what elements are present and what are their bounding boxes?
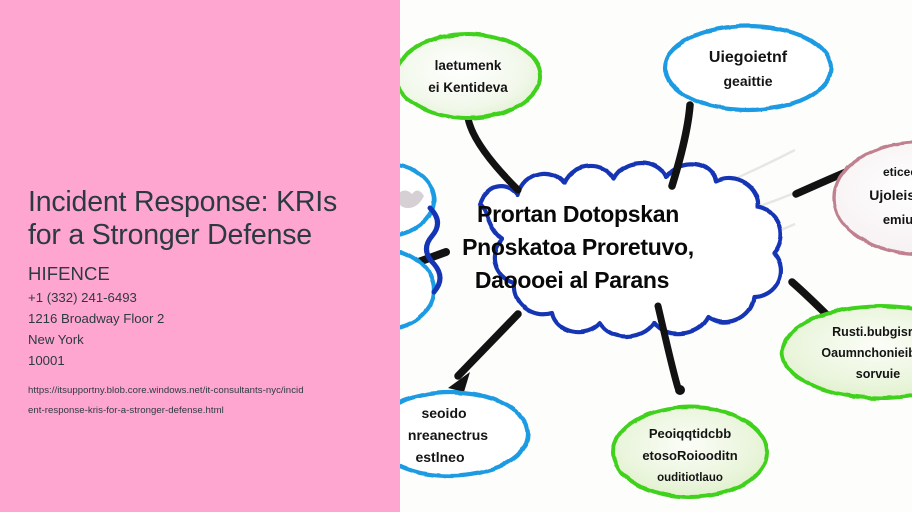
- node-right-lower-line-2: Oaumnchonieibten: [821, 346, 912, 360]
- promo-card: Incident Response: KRIs for a Stronger D…: [0, 0, 912, 512]
- contact-street: 1216 Broadway Floor 2: [28, 309, 376, 330]
- node-right-lower-line-1: Rusti.bubgisriu: [832, 325, 912, 339]
- node-right-upper-line-3: emiu: [883, 212, 912, 227]
- node-right-upper-line-1: eticee: [883, 165, 912, 179]
- node-bottom-center-line-1: Peoiqqtidcbb: [649, 426, 731, 441]
- node-top-right[interactable]: Uiegoietnf geaittie: [665, 26, 831, 110]
- page-title: Incident Response: KRIs for a Stronger D…: [28, 186, 376, 252]
- node-bottom-center-line-3: ouditiotlauo: [657, 472, 723, 484]
- node-bottom-center[interactable]: Peoiqqtidcbb etosoRoiooditn ouditiotlauo: [613, 407, 767, 497]
- node-bottom-left-line-2: nreanectrus: [408, 427, 488, 443]
- central-node-line-1: Prortan Dotopskan: [477, 201, 679, 227]
- source-url[interactable]: https://itsupportny.blob.core.windows.ne…: [28, 381, 376, 421]
- node-bottom-center-line-2: etosoRoiooditn: [642, 448, 737, 463]
- node-top-left-line-1: laetumenk: [435, 58, 502, 73]
- contact-city: New York: [28, 330, 376, 351]
- node-right-lower-line-3: sorvuie: [856, 367, 901, 381]
- node-top-right-line-2: geaittie: [723, 73, 772, 89]
- mindmap-illustration: Prortan Dotopskan Pnoskatoa Proretuvo, D…: [400, 0, 912, 512]
- connector-endpoint-dot-2: [675, 385, 685, 395]
- node-right-upper-line-2: Ujoleisie: [869, 187, 912, 203]
- central-node-line-3: Daoooei al Parans: [475, 267, 669, 293]
- contact-zip: 10001: [28, 351, 376, 372]
- brand-name: HIFENCE: [28, 262, 376, 285]
- node-bottom-left-line-1: seoido: [421, 405, 466, 421]
- source-url-line-2: ent-response-kris-for-a-stronger-defense…: [28, 401, 376, 421]
- source-url-line-1: https://itsupportny.blob.core.windows.ne…: [28, 381, 376, 401]
- node-bottom-left-line-3: estlneo: [415, 449, 464, 465]
- left-info-panel: Incident Response: KRIs for a Stronger D…: [0, 0, 400, 512]
- node-top-left-line-2: ei Kentideva: [428, 80, 508, 95]
- node-top-right-line-1: Uiegoietnf: [709, 49, 788, 66]
- contact-phone: +1 (332) 241-6493: [28, 288, 376, 309]
- node-top-left-outline: [400, 34, 540, 118]
- node-top-right-outline: [665, 26, 831, 110]
- node-bottom-left[interactable]: seoido nreanectrus estlneo: [400, 392, 528, 476]
- mindmap-canvas: Prortan Dotopskan Pnoskatoa Proretuvo, D…: [400, 0, 912, 512]
- node-top-left[interactable]: laetumenk ei Kentideva: [400, 34, 540, 118]
- contact-block: +1 (332) 241-6493 1216 Broadway Floor 2 …: [28, 288, 376, 371]
- central-node-line-2: Pnoskatoa Proretuvo,: [462, 234, 694, 260]
- left-panel-content: Incident Response: KRIs for a Stronger D…: [28, 186, 376, 421]
